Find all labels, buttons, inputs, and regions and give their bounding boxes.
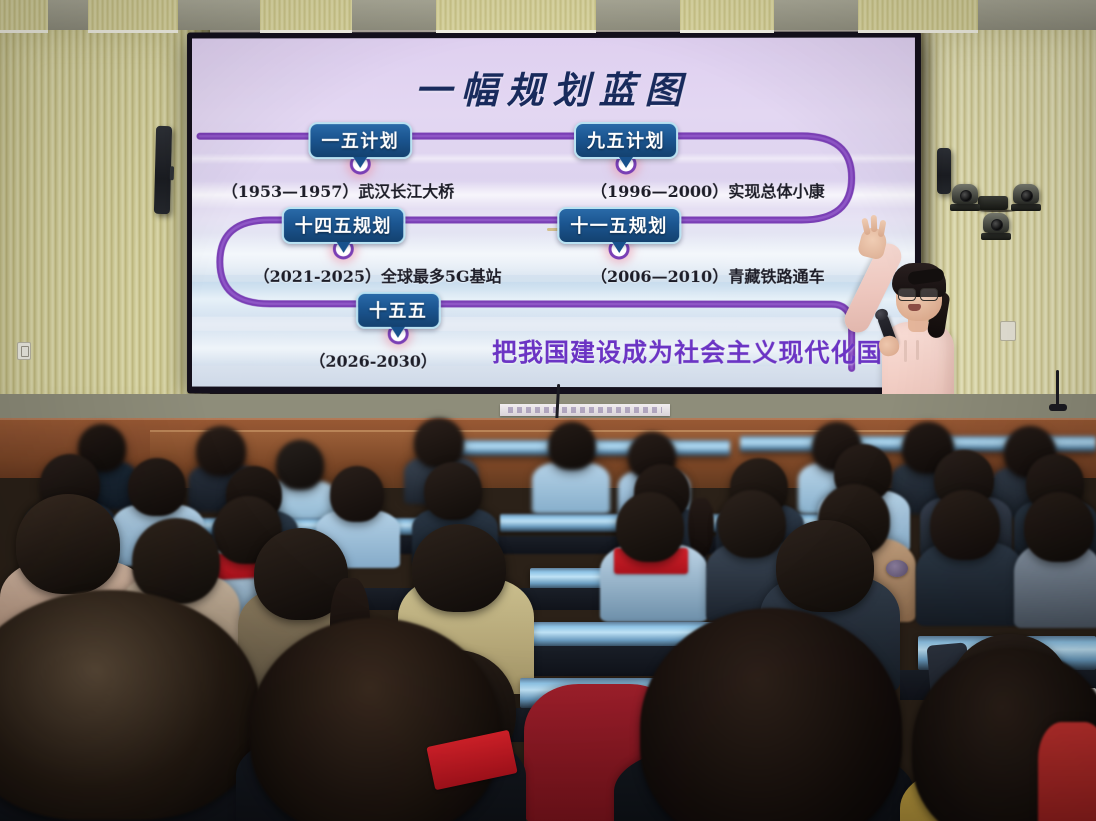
audience-head <box>548 422 596 470</box>
audience-head <box>330 466 384 522</box>
power-outlet-left <box>17 342 31 360</box>
wall-speaker-right <box>937 148 951 194</box>
audience-head <box>412 524 506 612</box>
audience-head <box>718 490 786 558</box>
wall-gray-segment <box>978 0 1096 30</box>
wall-gray-segment <box>596 0 680 30</box>
hoodie-drawstring <box>916 340 919 360</box>
audience-head <box>414 418 464 468</box>
audience-head <box>424 462 482 520</box>
audience-area <box>0 392 1096 821</box>
plan-flag-4[interactable]: 十一五规划 <box>557 207 681 244</box>
camera-head <box>1013 184 1039 204</box>
presentation-screen[interactable]: 一幅规划蓝图 一五计划 九五计划 十四五规划 十一五规划 十五五 （1953—1… <box>187 32 921 395</box>
glasses-icon <box>898 288 938 299</box>
camera-head <box>952 184 978 204</box>
plan-flag-3[interactable]: 十四五规划 <box>282 207 405 244</box>
audience-head <box>930 490 1000 560</box>
plan-caption-3: （2021-2025）全球最多5G基站 <box>254 263 502 287</box>
audience-head <box>616 492 684 562</box>
audience-head <box>132 518 220 604</box>
audience-head <box>196 426 246 476</box>
left-wall-slat-panel <box>0 28 210 428</box>
audience-head <box>276 440 324 490</box>
ptz-camera-2 <box>1013 184 1041 211</box>
wall-gray-segment <box>352 0 436 30</box>
camera-base <box>950 204 980 211</box>
audience-body <box>1038 722 1096 821</box>
wall-slat-segment <box>436 0 596 33</box>
audience-head <box>128 458 186 516</box>
camera-lens-icon <box>960 190 972 202</box>
audience-head-front <box>250 618 500 821</box>
plan-flag-1[interactable]: 一五计划 <box>308 122 412 159</box>
camera-lens-icon <box>1021 190 1033 202</box>
mouth <box>908 304 921 311</box>
wall-slat-segment <box>260 0 352 33</box>
ptz-camera-3 <box>983 213 1011 240</box>
hoodie-drawstring <box>904 340 907 362</box>
plan-caption-2: （1996—2000）实现总体小康 <box>591 178 825 202</box>
camera-controller-box <box>978 196 1008 210</box>
wall-gray-segment <box>178 0 260 30</box>
wall-speaker-left <box>154 126 172 214</box>
classroom-photo: 一幅规划蓝图 一五计划 九五计划 十四五规划 十一五规划 十五五 （1953—1… <box>0 0 1096 821</box>
wall-slat-segment <box>0 0 48 33</box>
wall-gray-segment <box>774 0 858 30</box>
plan-flag-5[interactable]: 十五五 <box>356 292 440 329</box>
audience-head <box>776 520 874 612</box>
wall-slat-segment <box>88 0 178 33</box>
hair-scrunchie <box>886 560 908 577</box>
slide-canvas: 一幅规划蓝图 一五计划 九五计划 十四五规划 十一五规划 十五五 （1953—1… <box>192 38 915 388</box>
wall-gray-segment <box>48 0 88 30</box>
audience-head <box>16 494 120 594</box>
power-outlet-right <box>1000 321 1016 341</box>
plan-flag-2[interactable]: 九五计划 <box>574 122 678 159</box>
audience-head <box>1024 492 1094 562</box>
camera-base <box>981 233 1011 240</box>
camera-lens-icon <box>991 219 1003 231</box>
ptz-camera-1 <box>952 184 980 211</box>
plan-caption-1: （1953—1957）武汉长江大桥 <box>222 178 454 202</box>
wall-slat-segment <box>858 0 978 33</box>
camera-head <box>983 213 1009 233</box>
finger <box>871 215 878 232</box>
camera-base <box>1011 204 1041 211</box>
wall-slat-segment <box>680 0 774 33</box>
plan-caption-5: （2026-2030） <box>309 348 436 372</box>
plan-caption-4: （2006—2010）青藏铁路通车 <box>591 263 825 287</box>
